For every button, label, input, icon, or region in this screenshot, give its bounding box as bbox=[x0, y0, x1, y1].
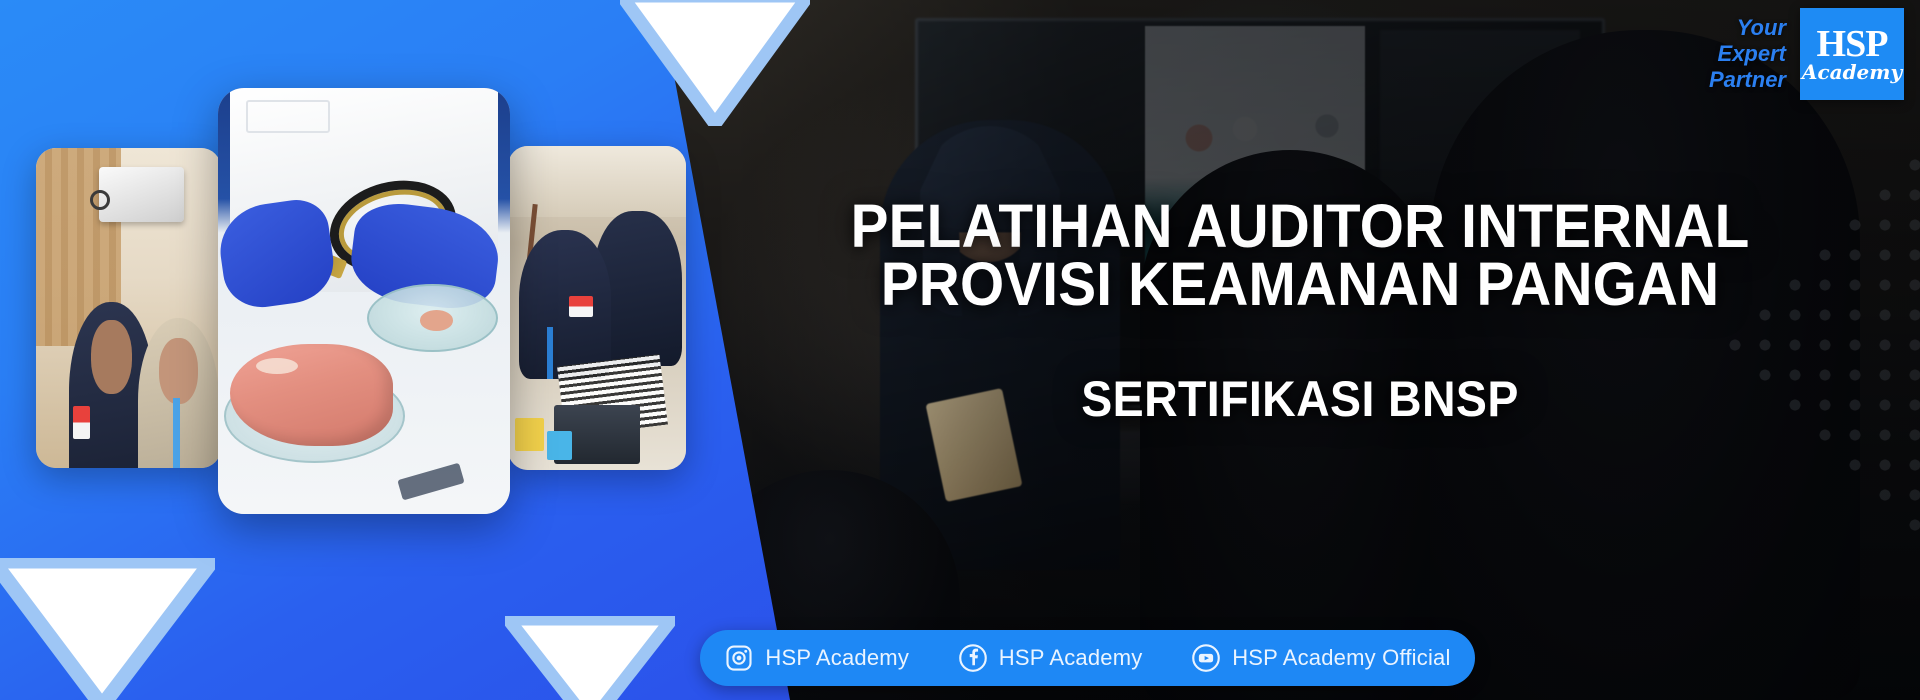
social-label-youtube: HSP Academy Official bbox=[1232, 645, 1450, 671]
logo-primary-text: HSP bbox=[1817, 25, 1888, 63]
social-label-facebook: HSP Academy bbox=[999, 645, 1143, 671]
tagline-line-2: Expert bbox=[1709, 41, 1786, 67]
headline-block: PELATIHAN AUDITOR INTERNAL PROVISI KEAMA… bbox=[790, 198, 1810, 424]
facebook-icon bbox=[958, 643, 988, 673]
brand-tagline: Your Expert Partner bbox=[1709, 15, 1786, 93]
headline-line-2: PROVISI KEAMANAN PANGAN bbox=[826, 256, 1775, 314]
social-link-youtube[interactable]: HSP Academy Official bbox=[1191, 643, 1450, 673]
photo-card-trainees bbox=[36, 148, 221, 468]
social-label-instagram: HSP Academy bbox=[765, 645, 909, 671]
headline-subline: SERTIFIKASI BNSP bbox=[826, 374, 1775, 424]
triangle-decor-top bbox=[620, 0, 810, 126]
photo-card-food-inspection bbox=[218, 88, 510, 514]
hsp-academy-logo: HSP Academy bbox=[1800, 8, 1904, 100]
triangle-decor-bottom-left bbox=[0, 558, 215, 700]
headline-line-1: PELATIHAN AUDITOR INTERNAL bbox=[826, 198, 1775, 256]
promo-banner: PELATIHAN AUDITOR INTERNAL PROVISI KEAMA… bbox=[0, 0, 1920, 700]
triangle-decor-bottom-right bbox=[505, 616, 675, 700]
tagline-line-1: Your bbox=[1709, 15, 1786, 41]
social-link-instagram[interactable]: HSP Academy bbox=[724, 643, 909, 673]
social-link-facebook[interactable]: HSP Academy bbox=[958, 643, 1143, 673]
photo-card-workshop bbox=[508, 146, 686, 470]
instagram-icon bbox=[724, 643, 754, 673]
youtube-icon bbox=[1191, 643, 1221, 673]
social-media-bar: HSP Academy HSP Academy HSP Academy Offi… bbox=[700, 630, 1475, 686]
brand-logo-block: Your Expert Partner HSP Academy bbox=[1709, 8, 1904, 100]
logo-secondary-text: Academy bbox=[1802, 61, 1902, 83]
tagline-line-3: Partner bbox=[1709, 67, 1786, 93]
